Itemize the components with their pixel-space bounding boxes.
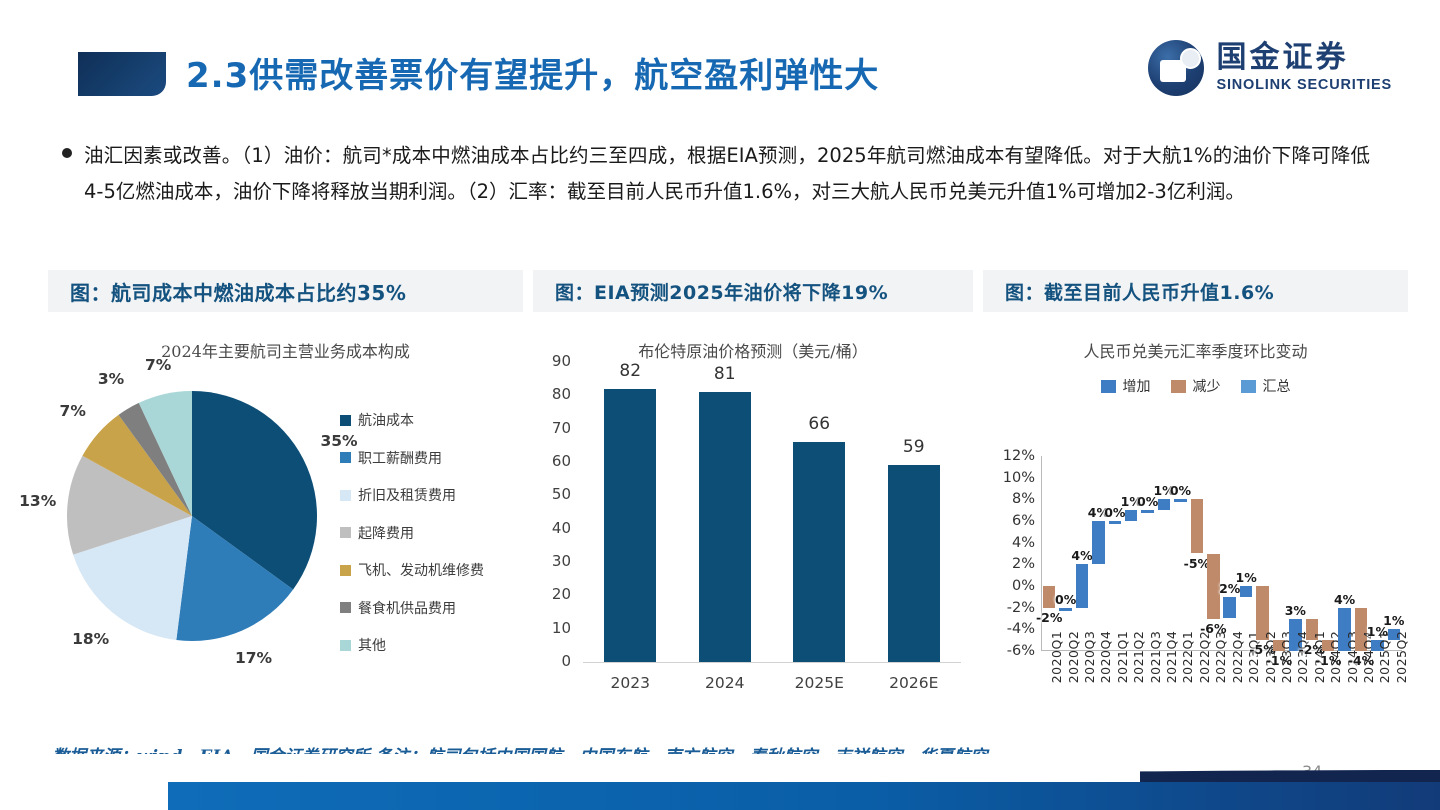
- bar-y-tick: 90: [533, 352, 571, 370]
- card-header-1: 图：航司成本中燃油成本占比约35%: [48, 270, 523, 312]
- bar-y-tick: 10: [533, 619, 571, 637]
- bar-y-tick: 0: [533, 652, 571, 670]
- bar-x-axis: [583, 662, 961, 663]
- logo-text-cn: 国金证券: [1216, 43, 1392, 73]
- waterfall-y-tick: -4%: [1007, 621, 1035, 637]
- pie-legend-item[interactable]: 折旧及租赁费用: [340, 485, 484, 505]
- card-heading-text: 图：截至目前人民币升值1.6%: [1005, 278, 1274, 305]
- pie-slice-label: 18%: [72, 630, 109, 648]
- waterfall-x-label: 2025Q2: [1394, 631, 1409, 684]
- waterfall-column: -2%2024Q1: [1304, 456, 1320, 651]
- waterfall-column: 1%2025Q2: [1386, 456, 1402, 651]
- waterfall-chart: 12%10%8%6%4%2%0%-2%-4%-6%-2%2020Q10%2020…: [983, 396, 1408, 766]
- legend-swatch-icon: [1101, 380, 1116, 393]
- bar-plot-area: 822023812024662025E592026E: [583, 362, 961, 662]
- pie-legend: 航油成本职工薪酬费用折旧及租赁费用起降费用飞机、发动机维修费餐食机供品费用其他: [340, 410, 484, 673]
- card-header-2: 图：EIA预测2025年油价将下降19%: [533, 270, 973, 312]
- bar-chart: 9080706050403020100822023812024662025E59…: [533, 362, 973, 692]
- waterfall-legend: 增加减少汇总: [983, 376, 1408, 396]
- card-header-3: 图：截至目前人民币升值1.6%: [983, 270, 1408, 312]
- pie-legend-label: 折旧及租赁费用: [358, 485, 456, 505]
- bar-column: 812024: [678, 362, 773, 662]
- bar-category-label: 2025E: [795, 674, 844, 692]
- chart-card-brent-forecast: 图：EIA预测2025年油价将下降19% 布伦特原油价格预测（美元/桶） 908…: [533, 270, 973, 692]
- bar-chart-title: 布伦特原油价格预测（美元/桶）: [533, 338, 973, 362]
- waterfall-y-tick: -2%: [1007, 600, 1035, 616]
- footer-blue-band: [168, 782, 1440, 810]
- bar-y-tick: 70: [533, 419, 571, 437]
- chart-card-fx-waterfall: 图：截至目前人民币升值1.6% 人民币兑美元汇率季度环比变动 增加减少汇总 12…: [983, 270, 1408, 766]
- waterfall-bar: [1207, 554, 1219, 619]
- legend-swatch-icon: [1241, 380, 1256, 393]
- waterfall-y-tick: 6%: [1012, 513, 1035, 529]
- legend-swatch-icon: [340, 640, 351, 651]
- bar-y-tick: 20: [533, 585, 571, 603]
- pie-legend-label: 职工薪酬费用: [358, 448, 442, 468]
- waterfall-y-tick: -6%: [1007, 643, 1035, 659]
- bar: [793, 442, 845, 662]
- slide-root: 2.3供需改善票价有望提升，航空盈利弹性大 国金证券 SINOLINK SECU…: [0, 0, 1440, 810]
- pie-slice-label: 3%: [98, 370, 124, 388]
- card-heading-text: 图：EIA预测2025年油价将下降19%: [555, 278, 888, 305]
- title-accent-block: [78, 52, 166, 96]
- footer-white-curve: [0, 754, 1140, 782]
- bar: [699, 392, 751, 662]
- waterfall-column: -1%2023Q3: [1271, 456, 1287, 651]
- pie-legend-label: 飞机、发动机维修费: [358, 560, 484, 580]
- waterfall-bar: [1174, 499, 1186, 502]
- pie-legend-item[interactable]: 餐食机供品费用: [340, 598, 484, 618]
- sinolink-logo-icon: [1148, 40, 1204, 96]
- waterfall-column: 1%2021Q2: [1123, 456, 1139, 651]
- waterfall-column: -6%2022Q3: [1205, 456, 1221, 651]
- waterfall-y-tick: 12%: [1003, 448, 1035, 464]
- waterfall-y-tick: 4%: [1012, 535, 1035, 551]
- bar-value-label: 59: [903, 437, 925, 457]
- waterfall-column: 4%2020Q4: [1090, 456, 1106, 651]
- waterfall-legend-label: 增加: [1123, 376, 1151, 396]
- waterfall-column: -4%2024Q4: [1353, 456, 1369, 651]
- waterfall-bar: [1109, 521, 1121, 524]
- pie-slice-label: 7%: [145, 356, 171, 374]
- logo-text-en: SINOLINK SECURITIES: [1216, 78, 1392, 93]
- pie-slice-label: 35%: [320, 432, 357, 450]
- waterfall-y-tick: 0%: [1012, 578, 1035, 594]
- waterfall-column: -2%2020Q1: [1041, 456, 1057, 651]
- legend-swatch-icon: [340, 527, 351, 538]
- bar-column: 592026E: [867, 362, 962, 662]
- waterfall-column: 2%2022Q4: [1222, 456, 1238, 651]
- waterfall-column: 4%2020Q3: [1074, 456, 1090, 651]
- waterfall-value-label: 1%: [1383, 613, 1404, 628]
- page-title: 2.3供需改善票价有望提升，航空盈利弹性大: [186, 48, 879, 97]
- body-paragraph: 油汇因素或改善。（1）油价：航司*成本中燃油成本占比约三至四成，根据EIA预测，…: [84, 138, 1370, 210]
- company-logo: 国金证券 SINOLINK SECURITIES: [1148, 40, 1392, 96]
- waterfall-y-tick: 2%: [1012, 556, 1035, 572]
- bar-category-label: 2026E: [889, 674, 938, 692]
- bar-y-tick: 60: [533, 452, 571, 470]
- bar-column: 662025E: [772, 362, 867, 662]
- waterfall-column: 4%2024Q3: [1336, 456, 1352, 651]
- bar: [888, 465, 940, 662]
- legend-swatch-icon: [340, 490, 351, 501]
- waterfall-bar: [1223, 597, 1235, 619]
- waterfall-y-tick: 10%: [1003, 470, 1035, 486]
- waterfall-bar: [1240, 586, 1252, 597]
- waterfall-bar: [1043, 586, 1055, 608]
- waterfall-bar: [1092, 521, 1104, 564]
- pie-legend-label: 起降费用: [358, 523, 414, 543]
- waterfall-y-tick: 8%: [1012, 491, 1035, 507]
- pie-slice-label: 17%: [235, 649, 272, 667]
- waterfall-column: -5%2023Q2: [1254, 456, 1270, 651]
- legend-swatch-icon: [340, 452, 351, 463]
- bullet-dot-icon: [62, 148, 72, 158]
- pie-svg: [62, 386, 322, 646]
- waterfall-legend-item[interactable]: 减少: [1171, 376, 1221, 396]
- waterfall-bar: [1191, 499, 1203, 553]
- pie-legend-label: 其他: [358, 635, 386, 655]
- pie-legend-item[interactable]: 起降费用: [340, 523, 484, 543]
- waterfall-column: 1%2023Q1: [1238, 456, 1254, 651]
- legend-swatch-icon: [1171, 380, 1186, 393]
- waterfall-legend-item[interactable]: 汇总: [1241, 376, 1291, 396]
- bar-y-tick: 40: [533, 519, 571, 537]
- legend-swatch-icon: [340, 602, 351, 613]
- pie-slice-label: 13%: [19, 492, 56, 510]
- waterfall-legend-label: 减少: [1193, 376, 1221, 396]
- waterfall-column: -1%2024Q2: [1320, 456, 1336, 651]
- bar-y-tick: 50: [533, 485, 571, 503]
- waterfall-bar: [1158, 499, 1170, 510]
- pie-legend-item[interactable]: 职工薪酬费用: [340, 448, 484, 468]
- chart-card-cost-structure: 图：航司成本中燃油成本占比约35% 2024年主要航司主营业务成本构成 航油成本…: [48, 270, 523, 662]
- waterfall-column: 3%2023Q4: [1287, 456, 1303, 651]
- bar-value-label: 82: [619, 361, 641, 381]
- pie-chart-title: 2024年主要航司主营业务成本构成: [48, 338, 523, 362]
- pie-slice-label: 7%: [60, 402, 86, 420]
- waterfall-column: 0%2022Q1: [1172, 456, 1188, 651]
- pie-legend-item[interactable]: 飞机、发动机维修费: [340, 560, 484, 580]
- bar-value-label: 66: [808, 414, 830, 434]
- bar-category-label: 2023: [611, 674, 650, 692]
- bar: [604, 389, 656, 662]
- bar-value-label: 81: [714, 364, 736, 384]
- legend-swatch-icon: [340, 565, 351, 576]
- waterfall-bar: [1076, 564, 1088, 607]
- pie-chart: 航油成本职工薪酬费用折旧及租赁费用起降费用飞机、发动机维修费餐食机供品费用其他 …: [48, 362, 523, 662]
- pie-legend-item[interactable]: 航油成本: [340, 410, 484, 430]
- waterfall-plot: 12%10%8%6%4%2%0%-2%-4%-6%-2%2020Q10%2020…: [1041, 456, 1402, 651]
- bar-y-tick: 80: [533, 385, 571, 403]
- pie-legend-label: 餐食机供品费用: [358, 598, 456, 618]
- pie-legend-label: 航油成本: [358, 410, 414, 430]
- pie-legend-item[interactable]: 其他: [340, 635, 484, 655]
- bar-category-label: 2024: [705, 674, 744, 692]
- waterfall-bar: [1125, 510, 1137, 521]
- legend-swatch-icon: [340, 415, 351, 426]
- waterfall-legend-label: 汇总: [1263, 376, 1291, 396]
- bar-column: 822023: [583, 362, 678, 662]
- waterfall-column: 0%2021Q1: [1107, 456, 1123, 651]
- waterfall-bar: [1059, 608, 1071, 611]
- bar-y-tick: 30: [533, 552, 571, 570]
- waterfall-chart-title: 人民币兑美元汇率季度环比变动: [983, 338, 1408, 362]
- card-heading-text: 图：航司成本中燃油成本占比约35%: [70, 277, 406, 306]
- waterfall-bar: [1141, 510, 1153, 513]
- waterfall-legend-item[interactable]: 增加: [1101, 376, 1151, 396]
